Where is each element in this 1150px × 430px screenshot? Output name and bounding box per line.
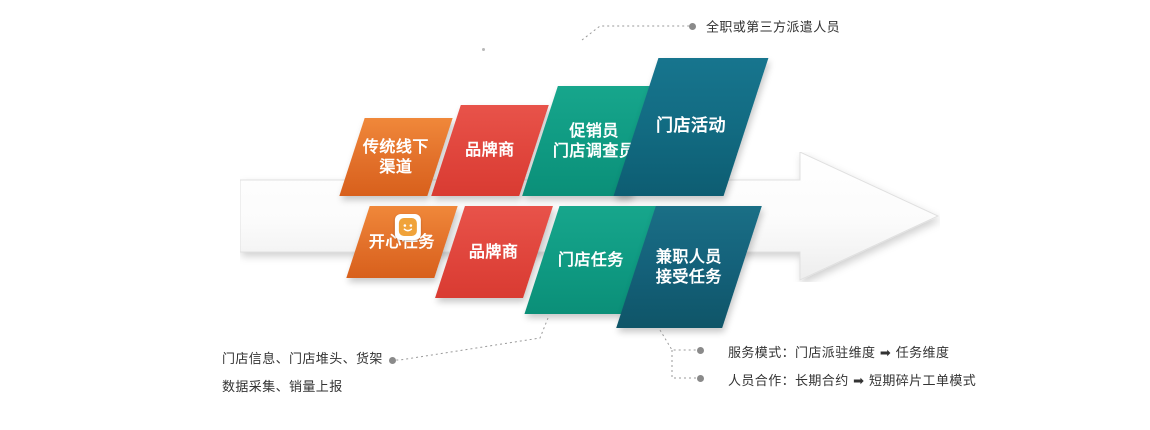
smiley-badge <box>395 214 421 240</box>
callout-dot-collect <box>389 357 396 364</box>
callout-dot-cooperation <box>697 375 704 382</box>
callout-collect-line1: 门店信息、门店堆头、货架 <box>222 348 383 367</box>
diagram-canvas: 传统线下 渠道 品牌商 促销员 门店调查员 门店活动 开心任务 品牌商 门店任务… <box>0 0 1150 430</box>
callout-collect-line2: 数据采集、销量上报 <box>222 376 343 395</box>
callout-dot-staff <box>689 23 696 30</box>
block-label: 门店任务 <box>558 250 624 270</box>
block-label: 促销员 门店调查员 <box>553 121 636 162</box>
callout-dot-service-mode <box>697 347 704 354</box>
smiley-face-icon <box>398 217 418 237</box>
callout-service-mode-line2: 人员合作：长期合约 ➡ 短期碎片工单模式 <box>728 370 976 389</box>
block-label: 兼职人员 接受任务 <box>656 247 722 288</box>
callout-staff-text: 全职或第三方派遣人员 <box>706 17 840 36</box>
block-label: 传统线下 渠道 <box>363 137 429 178</box>
stray-dot <box>482 48 485 51</box>
block-label: 品牌商 <box>465 140 515 160</box>
callout-service-mode-line1: 服务模式：门店派驻维度 ➡ 任务维度 <box>728 342 949 361</box>
block-label: 品牌商 <box>469 242 519 262</box>
block-label: 门店活动 <box>656 116 726 138</box>
